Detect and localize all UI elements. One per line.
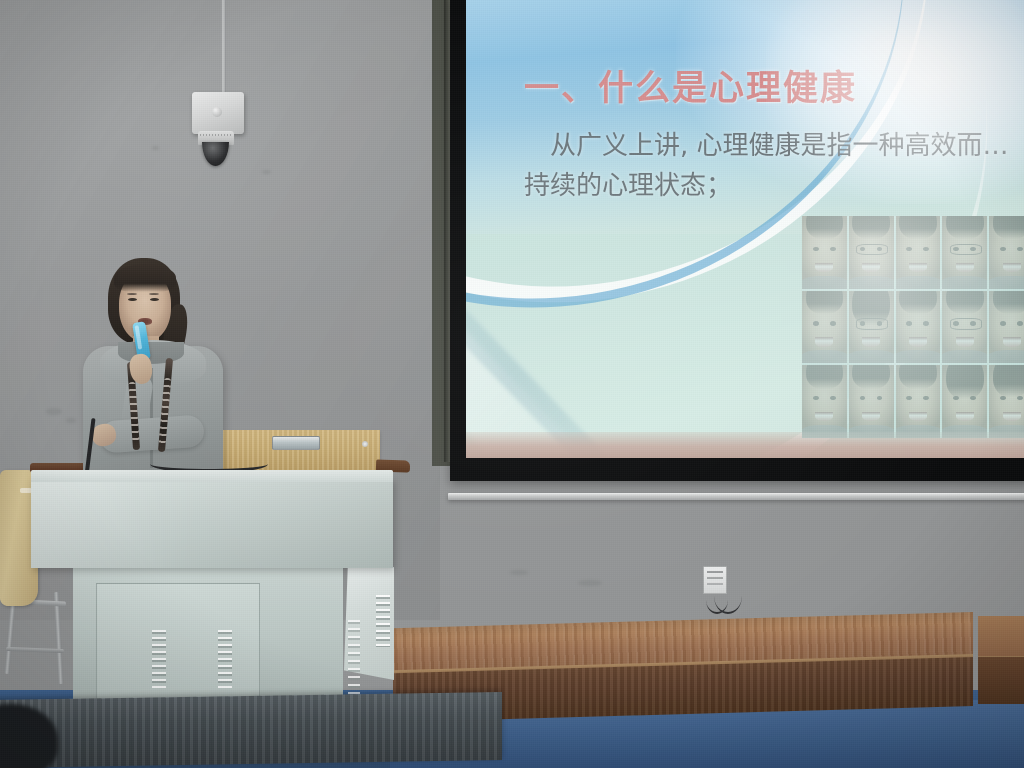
- face-photo: [896, 291, 941, 364]
- face-photo: [989, 291, 1024, 364]
- dome-camera-mount: [192, 92, 244, 134]
- podium-vent: [218, 630, 232, 688]
- slide-title: 一、什么是心理健康: [524, 60, 857, 111]
- face-photo: [802, 365, 847, 438]
- second-wood-surface-top: [978, 616, 1024, 656]
- podium-vent: [376, 595, 390, 647]
- wall-scuff: [152, 146, 159, 150]
- face-photo: [942, 291, 987, 364]
- podium-vent: [152, 630, 166, 688]
- podium-vent: [348, 620, 360, 700]
- slide-body: 从广义上讲, 心理健康是指一种高效而… 持续的心理状态；: [524, 126, 1009, 206]
- screen-weight-bar[interactable]: [448, 493, 1024, 500]
- screen-bottom-tint: [466, 432, 1024, 458]
- face-photo: [896, 216, 941, 289]
- podium-cabinet-door[interactable]: [96, 583, 260, 707]
- face-photo: [989, 365, 1024, 438]
- desk-handle[interactable]: [272, 436, 320, 450]
- slide-face-grid: [802, 216, 1024, 438]
- face-photo: [896, 365, 941, 438]
- hanging-cable: [706, 586, 728, 614]
- cable-conduit: [221, 0, 226, 95]
- presenter-eye: [128, 298, 137, 301]
- wall-scuff: [578, 580, 602, 586]
- presenter-eyebrow: [127, 293, 137, 295]
- face-photo: [989, 216, 1024, 289]
- presenter-hood-inner: [118, 342, 184, 364]
- podium-top: [31, 470, 393, 482]
- presenter-bangs: [114, 264, 176, 292]
- slide-body-line-1: 从广义上讲, 心理健康是指一种高效而…: [524, 126, 1009, 166]
- face-photo: [942, 365, 987, 438]
- wall-scuff: [66, 418, 76, 423]
- lecture-hall-photo: 一、什么是心理健康 从广义上讲, 心理健康是指一种高效而… 持续的心理状态；: [0, 0, 1024, 768]
- desk-screw: [362, 441, 368, 447]
- face-photo: [849, 365, 894, 438]
- wall-scuff: [262, 170, 271, 174]
- wall-scuff: [46, 408, 62, 415]
- slide-body-line-2: 持续的心理状态；: [524, 171, 732, 201]
- projection-screen[interactable]: 一、什么是心理健康 从广义上讲, 心理健康是指一种高效而… 持续的心理状态；: [466, 0, 1024, 458]
- wall-scuff: [510, 570, 528, 575]
- face-photo: [942, 216, 987, 289]
- presenter: [78, 258, 228, 478]
- podium-body: [31, 478, 393, 568]
- second-wood-surface-face: [978, 654, 1024, 704]
- face-photo: [802, 216, 847, 289]
- foreground-desk: [0, 692, 502, 768]
- face-photo: [849, 216, 894, 289]
- presenter-eye: [150, 298, 159, 301]
- face-photo: [802, 291, 847, 364]
- face-photo: [849, 291, 894, 364]
- presenter-eyebrow: [149, 293, 159, 295]
